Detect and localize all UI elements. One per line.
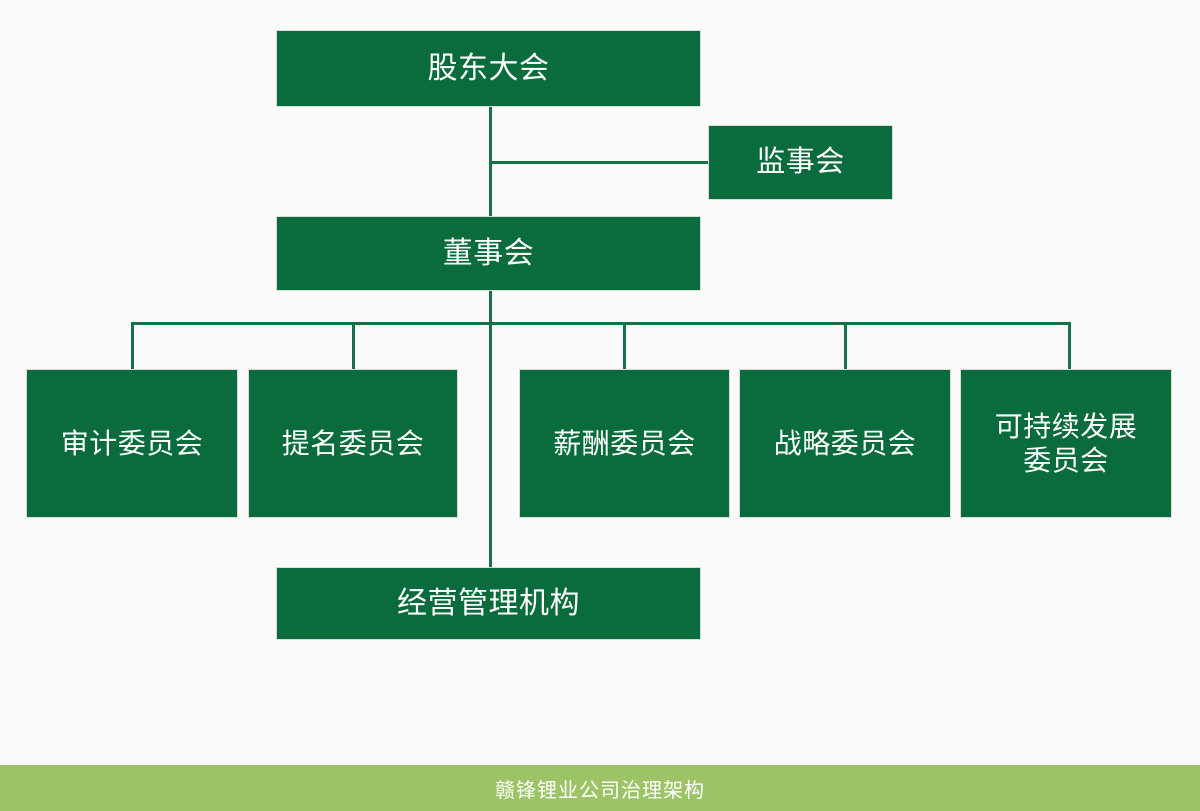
node-shareholders-meeting-label: 股东大会: [422, 51, 556, 86]
node-management-body-label: 经营管理机构: [391, 586, 586, 621]
caption-bar: 赣锋锂业公司治理架构: [0, 765, 1200, 811]
connector-drop-strategy-committee: [844, 322, 847, 369]
connector-drop-compensation-committee: [623, 322, 626, 369]
org-chart-canvas: 股东大会 监事会 董事会 审计委员会 提名委员会 薪酬委员会 战略委员会 可持续…: [0, 0, 1200, 811]
node-sustainability-committee-label-line1: 可持续发展: [989, 410, 1144, 443]
node-compensation-committee-label: 薪酬委员会: [547, 427, 702, 460]
node-shareholders-meeting[interactable]: 股东大会: [276, 30, 701, 107]
connector-spine-to-supervisors: [489, 161, 710, 164]
node-strategy-committee[interactable]: 战略委员会: [739, 369, 951, 518]
node-sustainability-committee-text: 可持续发展 委员会: [989, 410, 1144, 476]
node-board-of-directors-label: 董事会: [437, 236, 541, 271]
connector-drop-nomination-committee: [352, 322, 355, 369]
node-management-body[interactable]: 经营管理机构: [276, 567, 701, 640]
node-sustainability-committee[interactable]: 可持续发展 委员会: [960, 369, 1172, 518]
node-strategy-committee-label: 战略委员会: [768, 427, 923, 460]
node-board-of-supervisors[interactable]: 监事会: [708, 125, 893, 200]
node-board-of-directors[interactable]: 董事会: [276, 216, 701, 291]
node-sustainability-committee-label-line2: 委员会: [989, 444, 1144, 477]
node-audit-committee[interactable]: 审计委员会: [26, 369, 238, 518]
connector-committee-bus: [131, 322, 1071, 325]
connector-drop-sustainability-committee: [1068, 322, 1071, 369]
node-compensation-committee[interactable]: 薪酬委员会: [519, 369, 730, 518]
connector-board-to-management: [489, 291, 492, 568]
node-audit-committee-label: 审计委员会: [55, 427, 210, 460]
caption-text: 赣锋锂业公司治理架构: [495, 774, 705, 803]
node-board-of-supervisors-label: 监事会: [750, 145, 851, 179]
connector-drop-audit-committee: [131, 322, 134, 369]
node-nomination-committee[interactable]: 提名委员会: [248, 369, 458, 518]
node-nomination-committee-label: 提名委员会: [276, 427, 431, 460]
